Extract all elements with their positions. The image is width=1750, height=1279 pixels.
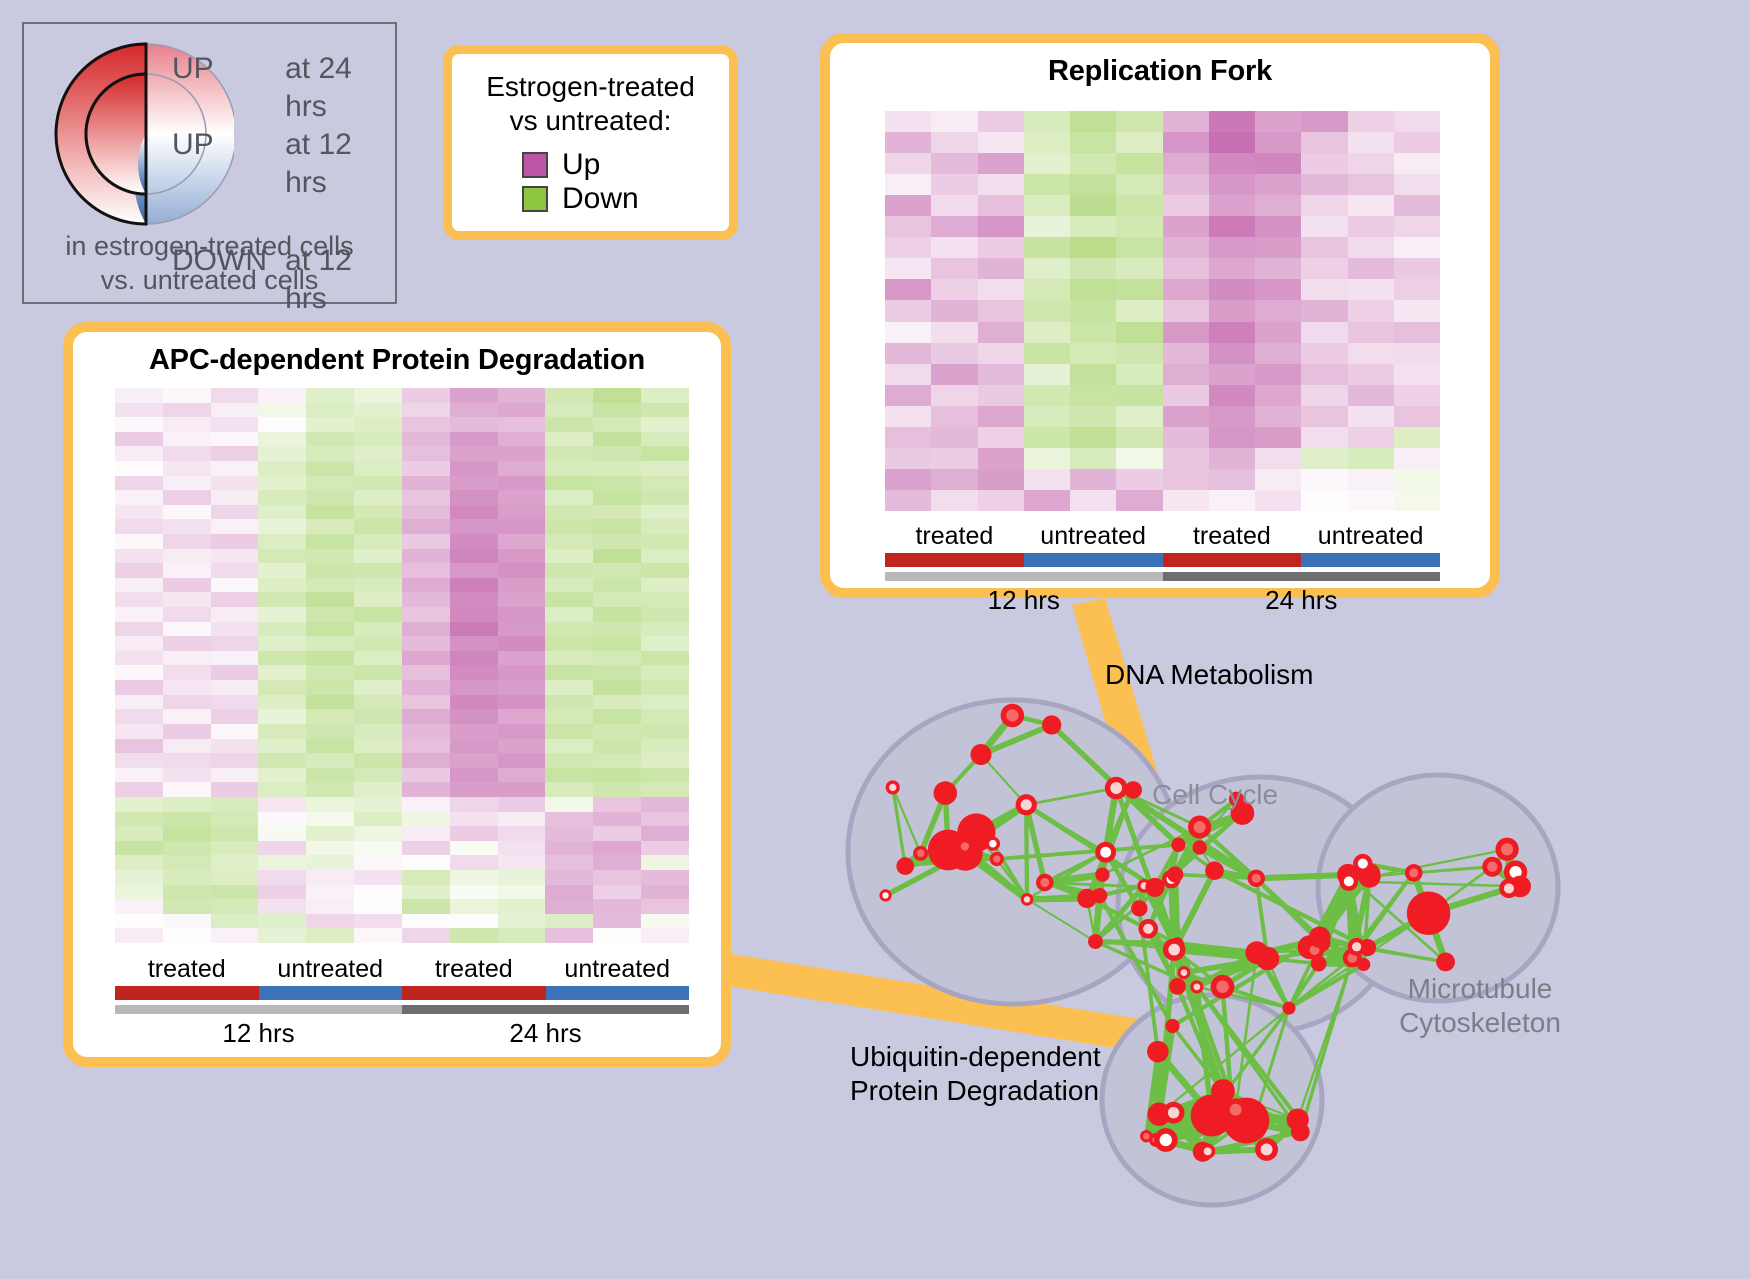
updown-legend-card: Estrogen-treated vs untreated: Up Down: [443, 45, 738, 240]
network-node[interactable]: [1436, 953, 1455, 972]
network-node[interactable]: [1165, 1019, 1179, 1033]
heatmap-cell: [641, 841, 689, 856]
heatmap-cell: [545, 870, 593, 885]
heatmap-cell: [306, 899, 354, 914]
heatmap-cell: [211, 709, 259, 724]
heatmap-cell: [498, 709, 546, 724]
heatmap-cell: [931, 469, 977, 490]
network-node[interactable]: [990, 852, 1004, 866]
heatmap-cell: [545, 797, 593, 812]
heatmap-cell: [402, 519, 450, 534]
network-node[interactable]: [1200, 1144, 1215, 1159]
heatmap-cell: [115, 388, 163, 403]
heatmap-cell: [498, 724, 546, 739]
heatmap-cell: [306, 417, 354, 432]
heatmap-cell: [1024, 385, 1070, 406]
heatmap-cell: [402, 563, 450, 578]
heatmap-cell: [402, 870, 450, 885]
heatmap-cell: [1348, 279, 1394, 300]
heatmap-cell: [1070, 237, 1116, 258]
network-node[interactable]: [1495, 838, 1518, 861]
network-node[interactable]: [886, 780, 900, 794]
heatmap-cell: [641, 403, 689, 418]
group-bar-apc-0: [115, 986, 259, 1000]
heatmap-cell: [163, 739, 211, 754]
heatmap-cell: [402, 899, 450, 914]
heatmap-cell: [1116, 195, 1162, 216]
network-node[interactable]: [1131, 900, 1147, 916]
colorbar-legend-box: UP at 24 hrs UP at 12 hrs DOWN at 12 hrs…: [22, 22, 397, 304]
heatmap-cell: [498, 388, 546, 403]
heatmap-cell: [211, 534, 259, 549]
network-node[interactable]: [1482, 857, 1502, 877]
heatmap-cell: [354, 870, 402, 885]
heatmap-cell: [115, 812, 163, 827]
network-node[interactable]: [1205, 861, 1224, 880]
network-node[interactable]: [1348, 938, 1366, 956]
heatmap-cell: [354, 724, 402, 739]
heatmap-cell: [978, 258, 1024, 279]
heatmap-cell: [306, 622, 354, 637]
heatmap-cell: [402, 826, 450, 841]
heatmap-cell: [306, 914, 354, 929]
network-node[interactable]: [1188, 815, 1211, 838]
network-node[interactable]: [1407, 891, 1451, 935]
heatmap-cell: [115, 534, 163, 549]
heatmap-cell: [641, 519, 689, 534]
network-node[interactable]: [1138, 919, 1158, 939]
heatmap-cell: [306, 432, 354, 447]
heatmap-cell: [258, 826, 306, 841]
heatmap-cell: [211, 563, 259, 578]
network-node[interactable]: [1192, 840, 1206, 854]
heatmap-cell: [1394, 406, 1440, 427]
heatmap-cell: [306, 578, 354, 593]
heatmap-cell: [931, 490, 977, 511]
network-node[interactable]: [879, 889, 891, 901]
heatmap-cell: [1163, 195, 1209, 216]
heatmap-cell: [354, 914, 402, 929]
heatmap-cell: [402, 885, 450, 900]
heatmap-cell: [258, 739, 306, 754]
heatmap-cell: [163, 855, 211, 870]
heatmap-cell: [1163, 216, 1209, 237]
heatmap-cell: [402, 797, 450, 812]
heatmap-cell: [1348, 490, 1394, 511]
group-bar-apc-1: [259, 986, 403, 1000]
heatmap-cell: [1024, 406, 1070, 427]
heatmap-cell: [593, 578, 641, 593]
heatmap-cell: [211, 812, 259, 827]
heatmap-cell: [163, 403, 211, 418]
heatmap-cell: [163, 812, 211, 827]
heatmap-cell: [450, 928, 498, 943]
network-node[interactable]: [1190, 980, 1203, 993]
network-label-dna-metabolism: DNA Metabolism: [1105, 658, 1314, 692]
axis-apc: treated untreated treated untreated 12 h…: [115, 954, 689, 1050]
heatmap-cell: [258, 505, 306, 520]
heatmap-cell: [1209, 216, 1255, 237]
heatmap-cell: [1070, 300, 1116, 321]
heatmap-cell: [402, 461, 450, 476]
heatmap-cell: [163, 636, 211, 651]
heatmap-cell: [354, 432, 402, 447]
network-node[interactable]: [1145, 878, 1164, 897]
heatmap-cell: [1394, 490, 1440, 511]
heatmap-cell: [885, 448, 931, 469]
network-node[interactable]: [1021, 893, 1034, 906]
heatmap-cell: [115, 665, 163, 680]
heatmap-cell: [641, 446, 689, 461]
group-name-apc-0: treated: [115, 954, 259, 984]
network-node[interactable]: [1105, 777, 1128, 800]
heatmap-cell: [1163, 343, 1209, 364]
group-bar-rf-1: [1024, 553, 1163, 567]
network-node[interactable]: [1167, 866, 1183, 882]
heatmap-cell: [211, 768, 259, 783]
network-node[interactable]: [1311, 956, 1327, 972]
heatmap-cell: [1116, 279, 1162, 300]
heatmap-cell: [978, 343, 1024, 364]
heatmap-cell: [1301, 322, 1347, 343]
network-node[interactable]: [1088, 934, 1103, 949]
heatmap-cell: [931, 448, 977, 469]
heatmap-cell: [978, 279, 1024, 300]
heatmap-cell: [641, 505, 689, 520]
heatmap-cell: [450, 855, 498, 870]
heatmap-cell: [163, 914, 211, 929]
heatmap-cell: [885, 343, 931, 364]
network-node[interactable]: [1282, 1002, 1295, 1015]
heatmap-cell: [1024, 153, 1070, 174]
heatmap-cell: [545, 739, 593, 754]
heatmap-cell: [1024, 279, 1070, 300]
heatmap-cell: [402, 592, 450, 607]
heatmap-cell: [1255, 174, 1301, 195]
heatmap-cell: [1116, 322, 1162, 343]
heatmap-cell: [450, 578, 498, 593]
heatmap-cell: [115, 476, 163, 491]
network-node[interactable]: [1211, 975, 1235, 999]
heatmap-cell: [354, 899, 402, 914]
heatmap-cell: [1255, 343, 1301, 364]
heatmap-cell: [258, 841, 306, 856]
heatmap-cell: [306, 490, 354, 505]
heatmap-cell: [1116, 427, 1162, 448]
heatmap-cell: [1255, 406, 1301, 427]
heatmap-cell: [1209, 322, 1255, 343]
network-node[interactable]: [934, 781, 958, 805]
heatmap-cell: [306, 724, 354, 739]
network-node[interactable]: [1016, 794, 1037, 815]
colorbar-caption-line1: in estrogen-treated cells: [24, 229, 395, 263]
colorbar-caption: in estrogen-treated cells vs. untreated …: [24, 229, 395, 297]
heatmap-cell: [1024, 490, 1070, 511]
heatmap-cell: [1255, 448, 1301, 469]
heatmap-cell: [258, 695, 306, 710]
heatmap-cell: [498, 841, 546, 856]
heatmap-cell: [498, 753, 546, 768]
heatmap-cell: [115, 578, 163, 593]
heatmap-cell: [450, 914, 498, 929]
heatmap-cell: [498, 826, 546, 841]
heatmap-cell: [258, 592, 306, 607]
heatmap-cell: [306, 505, 354, 520]
heatmap-cell: [545, 549, 593, 564]
heatmap-cell: [354, 928, 402, 943]
heatmap-cell: [258, 899, 306, 914]
heatmap-cell: [498, 505, 546, 520]
network-label-cell-cycle-text: Cell Cycle: [1152, 778, 1278, 812]
network-node[interactable]: [1357, 958, 1370, 971]
heatmap-cell: [211, 490, 259, 505]
heatmap-cell: [1348, 132, 1394, 153]
network-node[interactable]: [1178, 966, 1191, 979]
heatmap-cell: [498, 461, 546, 476]
heatmap-cell: [931, 364, 977, 385]
heatmap-cell: [163, 753, 211, 768]
heatmap-cell: [641, 665, 689, 680]
down-color-swatch: [522, 186, 548, 212]
heatmap-cell: [885, 216, 931, 237]
heatmap-cell: [593, 680, 641, 695]
colorbar-caption-line2: vs. untreated cells: [24, 263, 395, 297]
heatmap-cell: [402, 388, 450, 403]
network-node[interactable]: [1339, 872, 1358, 891]
network-node[interactable]: [1169, 978, 1186, 995]
network-node[interactable]: [913, 846, 928, 861]
heatmap-cell: [306, 446, 354, 461]
network-node[interactable]: [1499, 879, 1518, 898]
heatmap-cell: [354, 826, 402, 841]
heatmap-cell: [1116, 132, 1162, 153]
heatmap-cell: [1209, 469, 1255, 490]
heatmap-cell: [931, 279, 977, 300]
heatmap-cell: [545, 768, 593, 783]
heatmap-cell: [211, 432, 259, 447]
heatmap-cell: [354, 636, 402, 651]
heatmap-cell: [498, 899, 546, 914]
heatmap-cell: [885, 279, 931, 300]
heatmap-cell: [1070, 258, 1116, 279]
heatmap-cell: [1116, 258, 1162, 279]
heatmap-cell: [1301, 195, 1347, 216]
heatmap-cell: [1394, 385, 1440, 406]
heatmap-cell: [545, 563, 593, 578]
heatmap-cell: [211, 928, 259, 943]
heatmap-cell: [354, 885, 402, 900]
heatmap-cell: [211, 914, 259, 929]
heatmap-cell: [641, 928, 689, 943]
heatmap-cell: [593, 519, 641, 534]
heatmap-cell: [885, 322, 931, 343]
heatmap-cell: [450, 709, 498, 724]
network-node[interactable]: [1077, 889, 1096, 908]
heatmap-cell: [593, 592, 641, 607]
heatmap-cell: [978, 237, 1024, 258]
network-node[interactable]: [957, 838, 973, 854]
heatmap-cell: [498, 403, 546, 418]
heatmap-cell: [211, 446, 259, 461]
heatmap-cell: [1116, 300, 1162, 321]
heatmap-cell: [1348, 195, 1394, 216]
network-node[interactable]: [1154, 1128, 1178, 1152]
heatmap-cell: [450, 782, 498, 797]
network-node[interactable]: [1245, 941, 1268, 964]
heatmap-cell: [211, 549, 259, 564]
heatmap-cell: [1348, 258, 1394, 279]
heatmap-cell: [545, 724, 593, 739]
network-node[interactable]: [1163, 1102, 1185, 1124]
heatmap-cell: [1255, 300, 1301, 321]
heatmap-cell: [258, 709, 306, 724]
up-color-swatch: [522, 152, 548, 178]
heatmap-cell: [545, 388, 593, 403]
heatmap-cell: [163, 885, 211, 900]
heatmap-cell: [593, 768, 641, 783]
heatmap-cell: [450, 446, 498, 461]
network-node[interactable]: [986, 836, 1000, 850]
network-node[interactable]: [1201, 1105, 1218, 1122]
heatmap-cell: [163, 782, 211, 797]
network-node[interactable]: [1163, 938, 1186, 961]
heatmap-cell: [1024, 174, 1070, 195]
heatmap-cell: [593, 490, 641, 505]
heatmap-cell: [211, 578, 259, 593]
network-node[interactable]: [1147, 1041, 1169, 1063]
heatmap-cell: [211, 885, 259, 900]
heatmap-cell: [498, 534, 546, 549]
heatmap-cell: [115, 724, 163, 739]
heatmap-cell: [498, 519, 546, 534]
network-node[interactable]: [1405, 864, 1423, 882]
heatmap-cell: [498, 812, 546, 827]
network-node[interactable]: [1248, 870, 1265, 887]
network-node[interactable]: [1036, 874, 1053, 891]
heatmap-cell: [978, 322, 1024, 343]
heatmap-cell: [1116, 448, 1162, 469]
heatmap-cell: [1394, 427, 1440, 448]
heatmap-cell: [885, 153, 931, 174]
group-name-rf-1: untreated: [1024, 521, 1163, 551]
heatmap-cell: [885, 364, 931, 385]
heatmap-cell: [1024, 258, 1070, 279]
heatmap-cell: [258, 885, 306, 900]
heatmap-cell: [593, 651, 641, 666]
heatmap-cell: [258, 534, 306, 549]
network-edge: [1256, 875, 1348, 878]
heatmap-cell: [931, 300, 977, 321]
network-node[interactable]: [896, 857, 914, 875]
heatmap-cell: [402, 432, 450, 447]
network-node[interactable]: [1171, 838, 1185, 852]
heatmap-cell: [885, 111, 931, 132]
network-node[interactable]: [1095, 868, 1109, 882]
heatmap-cell: [593, 665, 641, 680]
heatmap-cell: [115, 549, 163, 564]
heatmap-cell: [450, 651, 498, 666]
heatmap-cell: [1163, 322, 1209, 343]
poster-canvas: UP at 24 hrs UP at 12 hrs DOWN at 12 hrs…: [0, 0, 1750, 1279]
heatmap-cell: [258, 490, 306, 505]
timepoint-bar-apc-0: [115, 1005, 402, 1014]
heatmap-cell: [163, 461, 211, 476]
heatmap-cell: [641, 709, 689, 724]
network-node[interactable]: [970, 744, 991, 765]
heatmap-cell: [593, 870, 641, 885]
network-node[interactable]: [1124, 781, 1141, 798]
heatmap-cell: [1301, 469, 1347, 490]
heatmap-cell: [641, 870, 689, 885]
heatmap-cell: [593, 841, 641, 856]
timepoint-colorbar-apc: [115, 1005, 689, 1014]
heatmap-cell: [258, 797, 306, 812]
group-colorbar-apc: [115, 986, 689, 1000]
panel-replication-fork: Replication Fork treated untreated treat…: [820, 33, 1500, 598]
heatmap-cell: [306, 461, 354, 476]
colorbar-row-0: UP at 24 hrs: [172, 50, 397, 126]
timepoint-bar-rf-0: [885, 572, 1163, 581]
heatmap-cell: [402, 490, 450, 505]
heatmap-cell: [402, 724, 450, 739]
heatmap-cell: [593, 885, 641, 900]
heatmap-cell: [306, 855, 354, 870]
timepoint-label-apc-1: 24 hrs: [402, 1016, 689, 1050]
heatmap-cell: [450, 739, 498, 754]
group-bar-rf-2: [1163, 553, 1302, 567]
heatmap-cell: [641, 578, 689, 593]
heatmap-cell: [306, 403, 354, 418]
network-node[interactable]: [1309, 926, 1331, 948]
heatmap-cell: [1255, 427, 1301, 448]
network-node[interactable]: [1255, 1138, 1278, 1161]
heatmap-cell: [115, 928, 163, 943]
heatmap-cell: [354, 768, 402, 783]
heatmap-cell: [115, 592, 163, 607]
network-label-cell-cycle: Cell Cycle: [1152, 778, 1278, 812]
heatmap-cell: [1394, 258, 1440, 279]
heatmap-cell: [498, 885, 546, 900]
heatmap-cell: [258, 607, 306, 622]
network-node[interactable]: [1353, 854, 1372, 873]
heatmap-cell: [354, 651, 402, 666]
heatmap-cell: [1301, 427, 1347, 448]
heatmap-cell: [641, 622, 689, 637]
heatmap-cell: [1255, 469, 1301, 490]
network-node[interactable]: [1224, 1098, 1247, 1121]
heatmap-cell: [1163, 279, 1209, 300]
timepoint-labels-apc: 12 hrs 24 hrs: [115, 1016, 689, 1050]
heatmap-cell: [1070, 469, 1116, 490]
network-node[interactable]: [1140, 1130, 1152, 1142]
network-node[interactable]: [1291, 1123, 1310, 1142]
heatmap-cell: [450, 870, 498, 885]
heatmap-cell: [354, 622, 402, 637]
heatmap-cell: [115, 432, 163, 447]
network-node[interactable]: [1001, 704, 1025, 728]
updown-legend-title: Estrogen-treated vs untreated:: [452, 54, 729, 138]
heatmap-cell: [306, 928, 354, 943]
heatmap-cell: [1024, 300, 1070, 321]
heatmap-cell: [354, 607, 402, 622]
network-node[interactable]: [1042, 715, 1061, 734]
heatmap-cell: [1301, 111, 1347, 132]
network-node[interactable]: [1095, 842, 1116, 863]
heatmap-cell: [306, 534, 354, 549]
heatmap-cell: [258, 855, 306, 870]
heatmap-cell: [258, 563, 306, 578]
heatmap-cell: [1348, 427, 1394, 448]
